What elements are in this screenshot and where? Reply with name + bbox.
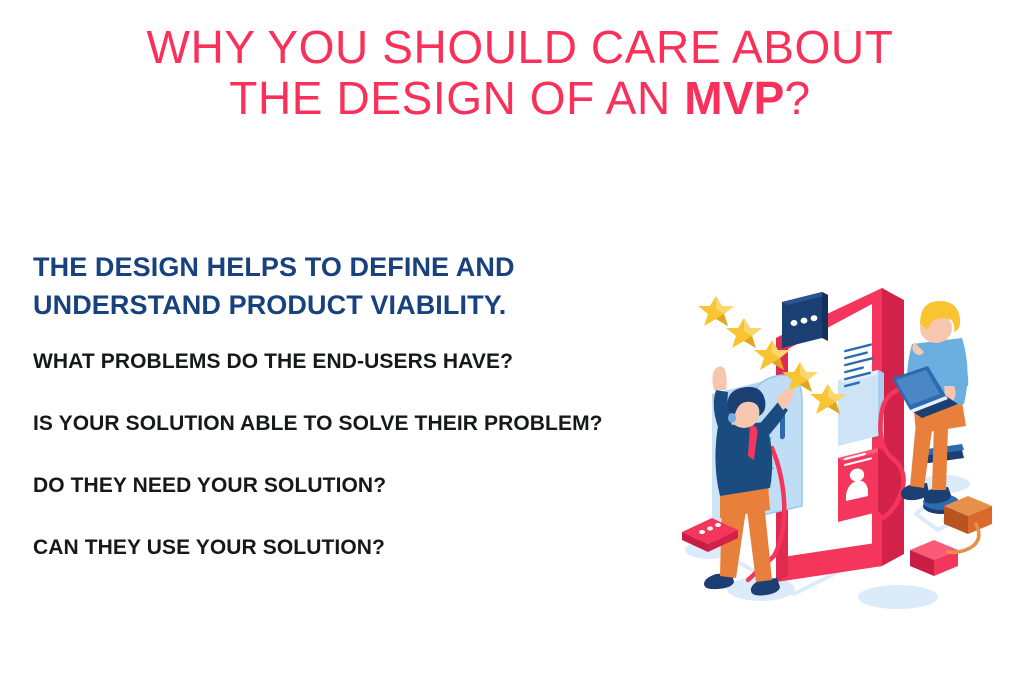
infographic-canvas: WHY YOU SHOULD CARE ABOUT THE DESIGN OF …: [0, 0, 1024, 679]
leg-right: [932, 422, 948, 490]
hand-left: [712, 366, 726, 390]
content-column: THE DESIGN HELPS TO DEFINE AND UNDERSTAN…: [33, 248, 723, 558]
page-title: WHY YOU SHOULD CARE ABOUT THE DESIGN OF …: [80, 22, 960, 123]
list-item: WHAT PROBLEMS DO THE END-USERS HAVE?: [33, 351, 723, 372]
isometric-mvp-illustration: [676, 262, 1024, 624]
lede-heading: THE DESIGN HELPS TO DEFINE AND UNDERSTAN…: [33, 248, 723, 325]
list-item: DO THEY NEED YOUR SOLUTION?: [33, 475, 723, 496]
list-item: CAN THEY USE YOUR SOLUTION?: [33, 537, 723, 558]
question-list: WHAT PROBLEMS DO THE END-USERS HAVE? IS …: [33, 351, 723, 558]
page-title-line-1: WHY YOU SHOULD CARE ABOUT: [80, 22, 960, 73]
ear: [728, 413, 736, 423]
page-title-line-2: THE DESIGN OF AN MVP?: [80, 73, 960, 124]
list-item: IS YOUR SOLUTION ABLE TO SOLVE THEIR PRO…: [33, 413, 723, 434]
star-icon: [698, 296, 734, 326]
lede-heading-line-2: UNDERSTAND PRODUCT VIABILITY.: [33, 286, 723, 324]
star-icon: [726, 318, 762, 348]
page-title-line-2-prefix: THE DESIGN OF AN: [229, 72, 684, 124]
page-title-emphasis-mvp: MVP: [684, 72, 784, 124]
red-box: [910, 540, 958, 576]
page-title-line-2-suffix: ?: [785, 72, 811, 124]
profile-card: [838, 446, 884, 522]
lede-heading-line-1: THE DESIGN HELPS TO DEFINE AND: [33, 248, 723, 286]
